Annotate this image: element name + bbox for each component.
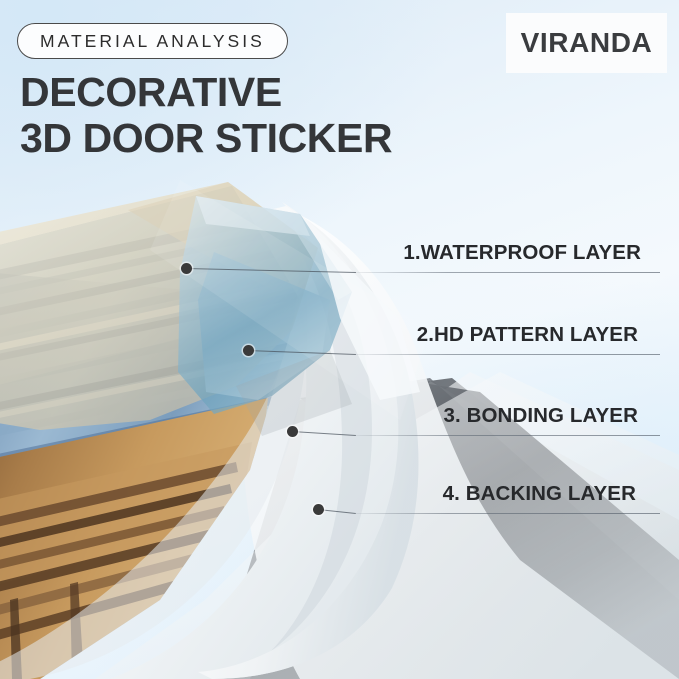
callout-label-waterproof: 1.WATERPROOF LAYER <box>403 241 641 268</box>
brand-logo-text: VIRANDA <box>521 27 653 59</box>
callout-dot-backing <box>313 504 324 515</box>
callout-label-backing: 4. BACKING LAYER <box>443 482 636 509</box>
badge-material-analysis: MATERIAL ANALYSIS <box>17 23 288 59</box>
callout-rule-backing <box>356 513 660 514</box>
brand-logo: VIRANDA <box>506 13 667 73</box>
callout-dot-bonding <box>287 426 298 437</box>
page-title-line1: DECORATIVE <box>20 69 282 115</box>
callout-label-text: 4. BACKING LAYER <box>443 482 636 509</box>
callout-label-text: 1.WATERPROOF LAYER <box>403 241 641 268</box>
callout-label-text: 2.HD PATTERN LAYER <box>417 323 638 350</box>
callout-rule-bonding <box>356 435 660 436</box>
poster-canvas: MATERIAL ANALYSIS DECORATIVE 3D DOOR STI… <box>0 0 679 679</box>
callout-label-hd-pattern: 2.HD PATTERN LAYER <box>417 323 638 350</box>
callout-dot-hd-pattern <box>243 345 254 356</box>
page-title: DECORATIVE 3D DOOR STICKER <box>20 70 392 162</box>
callout-label-text: 3. BONDING LAYER <box>444 404 639 431</box>
callout-label-bonding: 3. BONDING LAYER <box>444 404 639 431</box>
page-title-line2: 3D DOOR STICKER <box>20 116 392 162</box>
callout-rule-waterproof <box>356 272 660 273</box>
callout-rule-hd-pattern <box>356 354 660 355</box>
badge-label: MATERIAL ANALYSIS <box>40 31 265 52</box>
callout-dot-waterproof <box>181 263 192 274</box>
